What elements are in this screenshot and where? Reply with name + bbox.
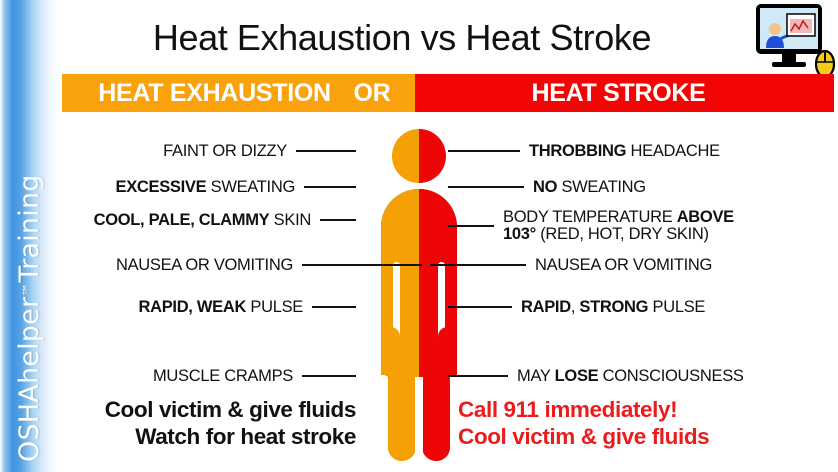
symptom-row-nausea-or-vomiting: NAUSEA OR VOMITING — [66, 254, 422, 276]
advice-line-1: Call 911 immediately! — [458, 396, 798, 423]
monitor-presenter-icon — [754, 2, 836, 82]
symptom-label: COOL, PALE, CLAMMY SKIN — [94, 211, 311, 230]
symptom-label: NO SWEATING — [533, 178, 646, 197]
symptom-row-faint-or-dizzy: FAINT OR DIZZY — [66, 140, 356, 162]
branding-sidebar: OSHAhelper™ Training — [0, 0, 58, 472]
advice-heat-stroke: Call 911 immediately! Cool victim & give… — [458, 396, 798, 450]
symptom-label: MUSCLE CRAMPS — [153, 367, 293, 386]
symptom-label: EXCESSIVE SWEATING — [115, 178, 295, 197]
symptom-label: MAY LOSE CONSCIOUSNESS — [517, 367, 744, 386]
advice-line-1: Cool victim & give fluids — [68, 396, 356, 423]
leader-line — [302, 264, 422, 266]
symptom-row-rapid-strong-pulse: RAPID, STRONG PULSE — [448, 296, 828, 318]
brand-text: OSHAhelper — [14, 297, 45, 462]
symptom-row-nausea-or-vomiting: NAUSEA OR VOMITING — [430, 254, 828, 276]
leader-line — [312, 306, 356, 308]
leader-line — [448, 375, 508, 377]
leader-line — [320, 219, 356, 221]
symptom-label: NAUSEA OR VOMITING — [116, 256, 293, 275]
symptom-label: FAINT OR DIZZY — [163, 142, 287, 161]
symptom-label: THROBBING HEADACHE — [529, 142, 720, 161]
symptom-label: BODY TEMPERATURE ABOVE 103° (RED, HOT, D… — [503, 209, 734, 243]
symptom-row-excessive-sweating: EXCESSIVE SWEATING — [66, 176, 356, 198]
leader-line — [430, 264, 526, 266]
banner-heat-stroke: HEAT STROKE — [415, 74, 834, 112]
page-title: Heat Exhaustion vs Heat Stroke — [62, 16, 742, 60]
leader-line — [448, 186, 524, 188]
leader-line — [296, 150, 356, 152]
trademark-symbol: ™ — [21, 283, 37, 297]
banner-right-label: HEAT STROKE — [531, 79, 705, 108]
symptom-row-cool-pale-clammy-skin: COOL, PALE, CLAMMY SKIN — [66, 209, 356, 231]
symptom-row-body-temperature: BODY TEMPERATURE ABOVE 103° (RED, HOT, D… — [448, 207, 838, 245]
comparison-banner: HEAT EXHAUSTION HEAT STROKE — [62, 74, 834, 112]
leader-line — [302, 375, 356, 377]
leader-line — [448, 150, 520, 152]
symptom-label: NAUSEA OR VOMITING — [535, 256, 712, 275]
leader-line — [304, 186, 356, 188]
brand-name: OSHAhelper™ Training — [0, 0, 58, 472]
brand-suffix: Training — [14, 174, 45, 282]
advice-line-2: Watch for heat stroke — [68, 423, 356, 450]
advice-line-2: Cool victim & give fluids — [458, 423, 798, 450]
symptom-label: RAPID, STRONG PULSE — [521, 298, 705, 317]
symptom-row-no-sweating: NO SWEATING — [448, 176, 828, 198]
advice-heat-exhaustion: Cool victim & give fluids Watch for heat… — [68, 396, 356, 450]
symptom-row-rapid-weak-pulse: RAPID, WEAK PULSE — [66, 296, 356, 318]
symptom-row-throbbing-headache: THROBBING HEADACHE — [448, 140, 828, 162]
banner-divider-label: OR — [327, 74, 417, 112]
symptom-label: RAPID, WEAK PULSE — [138, 298, 303, 317]
banner-left-label: HEAT EXHAUSTION — [98, 79, 331, 108]
leader-line — [448, 306, 512, 308]
symptom-row-may-lose-consciousness: MAY LOSE CONSCIOUSNESS — [448, 365, 828, 387]
leader-line — [448, 225, 494, 227]
symptom-row-muscle-cramps: MUSCLE CRAMPS — [66, 365, 356, 387]
